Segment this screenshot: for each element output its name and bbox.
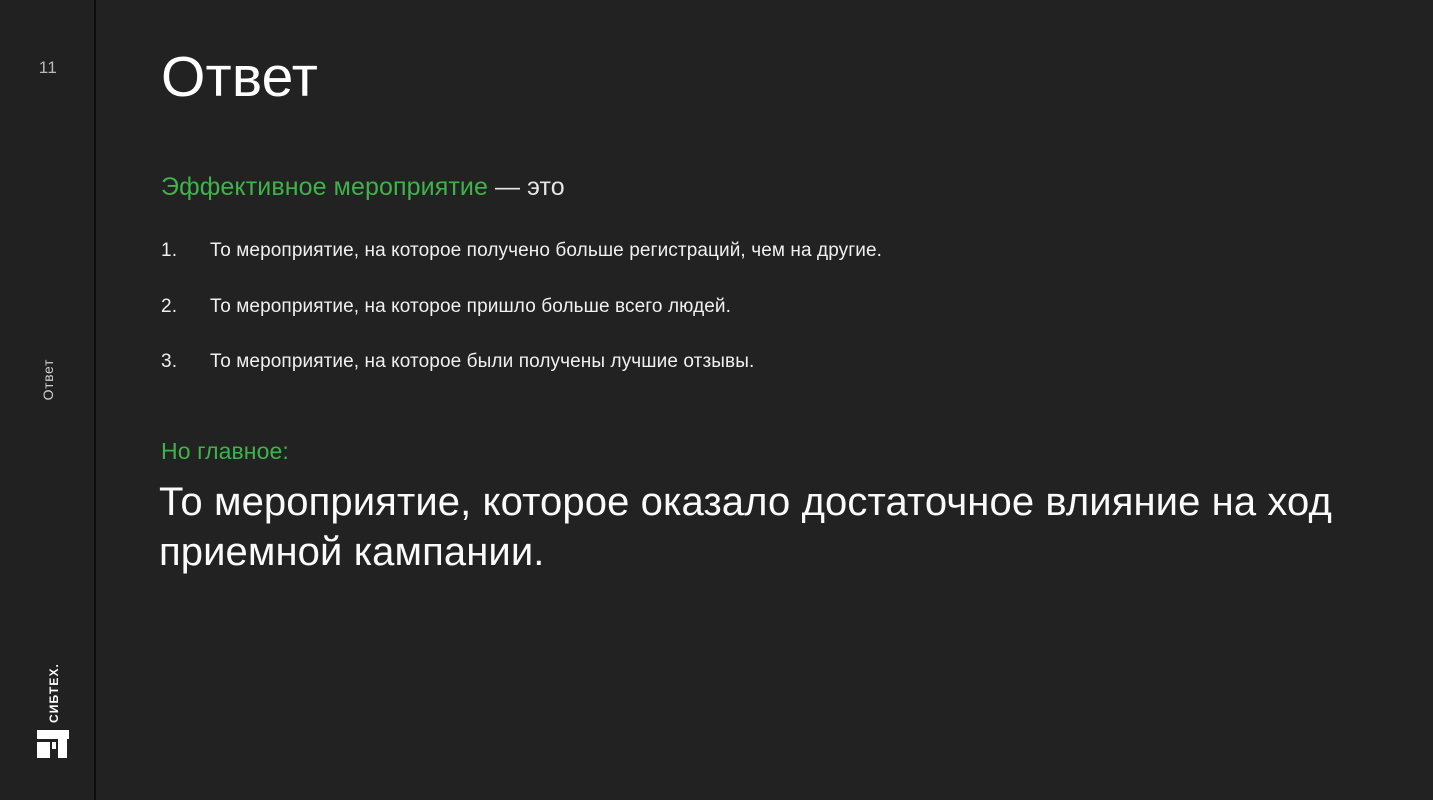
conclusion-text: То мероприятие, которое оказало достаточ… xyxy=(159,478,1389,577)
definition-list: 1. То мероприятие, на которое получено б… xyxy=(161,238,1341,375)
logo-wordmark: СИБТЕХ. xyxy=(47,663,61,723)
list-item-marker: 2. xyxy=(161,294,210,320)
lede-accent-text: Эффективное мероприятие xyxy=(161,173,488,201)
list-item-text: То мероприятие, на которое были получены… xyxy=(210,349,1341,375)
list-item-text: То мероприятие, на которое получено боль… xyxy=(210,238,1341,264)
list-item: 1. То мероприятие, на которое получено б… xyxy=(161,238,1341,264)
list-item-marker: 1. xyxy=(161,238,210,264)
list-item-text: То мероприятие, на которое пришло больше… xyxy=(210,294,1341,320)
list-item: 3. То мероприятие, на которое были получ… xyxy=(161,349,1341,375)
left-rail: 11 Ответ СИБТЕХ. xyxy=(0,0,96,800)
lede-rest-text: — это xyxy=(488,173,565,201)
page-title: Ответ xyxy=(161,48,318,108)
lede-line: Эффективное мероприятие — это xyxy=(161,172,565,202)
slide: 11 Ответ СИБТЕХ. Ответ Эффективное мероп… xyxy=(0,0,1433,800)
conclusion-kicker: Но главное: xyxy=(161,438,289,465)
page-number: 11 xyxy=(0,58,96,78)
list-item-marker: 3. xyxy=(161,349,210,375)
slide-content: Ответ Эффективное мероприятие — это 1. Т… xyxy=(96,0,1433,800)
section-label: Ответ xyxy=(40,359,56,400)
rail-section: Ответ xyxy=(0,300,96,460)
brand-logo: СИБТЕХ. xyxy=(0,663,96,758)
list-item: 2. То мероприятие, на которое пришло бол… xyxy=(161,294,1341,320)
sibtech-logo-mark-icon xyxy=(37,730,69,758)
